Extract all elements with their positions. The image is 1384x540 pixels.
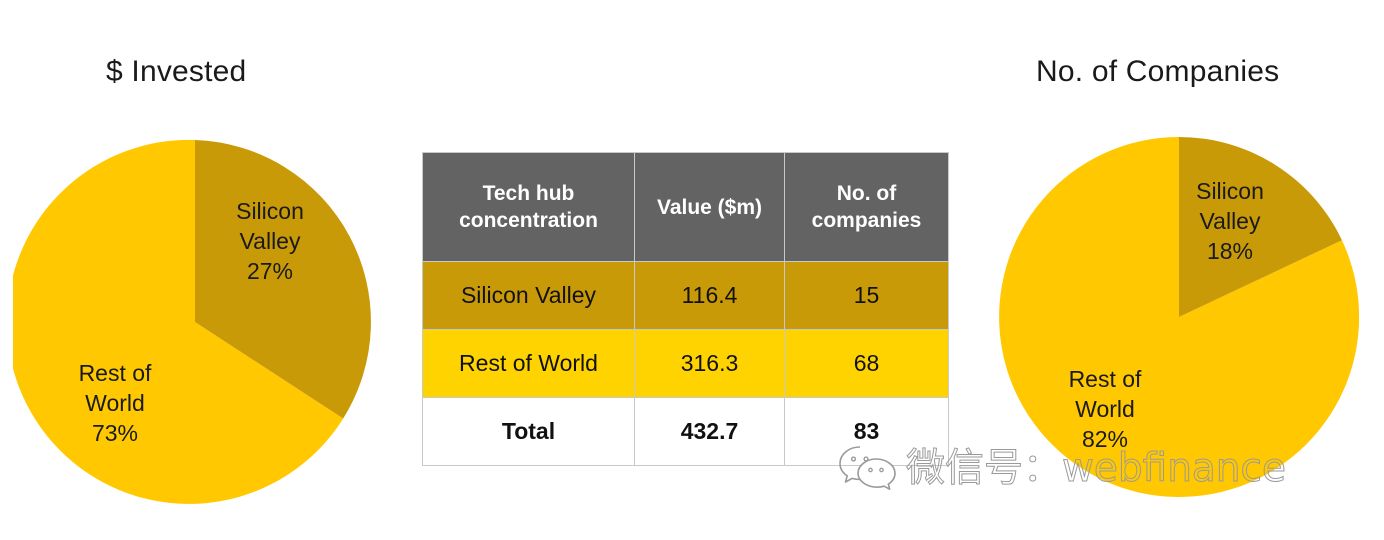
page-title-companies: No. of Companies (1036, 55, 1279, 89)
table-header-row: Tech hub concentration Value ($m) No. of… (423, 153, 949, 262)
cell-label: Rest of World (423, 330, 635, 398)
cell-label: Silicon Valley (423, 262, 635, 330)
cell-companies: 83 (785, 398, 949, 466)
page-title-invested: $ Invested (106, 55, 246, 89)
table-row: Rest of World 316.3 68 (423, 330, 949, 398)
cell-value: 116.4 (635, 262, 785, 330)
cell-companies: 68 (785, 330, 949, 398)
pie-chart-invested (13, 140, 377, 504)
slide-canvas: $ Invested No. of Companies Silicon Vall… (0, 0, 1384, 540)
tech-hub-concentration-table: Tech hub concentration Value ($m) No. of… (422, 152, 949, 466)
column-header-value: Value ($m) (635, 153, 785, 262)
cell-companies: 15 (785, 262, 949, 330)
cell-label: Total (423, 398, 635, 466)
cell-value: 316.3 (635, 330, 785, 398)
pie-chart-companies (999, 137, 1359, 497)
column-header-companies: No. of companies (785, 153, 949, 262)
table-row: Silicon Valley 116.4 15 (423, 262, 949, 330)
table-row-total: Total 432.7 83 (423, 398, 949, 466)
cell-value: 432.7 (635, 398, 785, 466)
column-header-tech-hub: Tech hub concentration (423, 153, 635, 262)
